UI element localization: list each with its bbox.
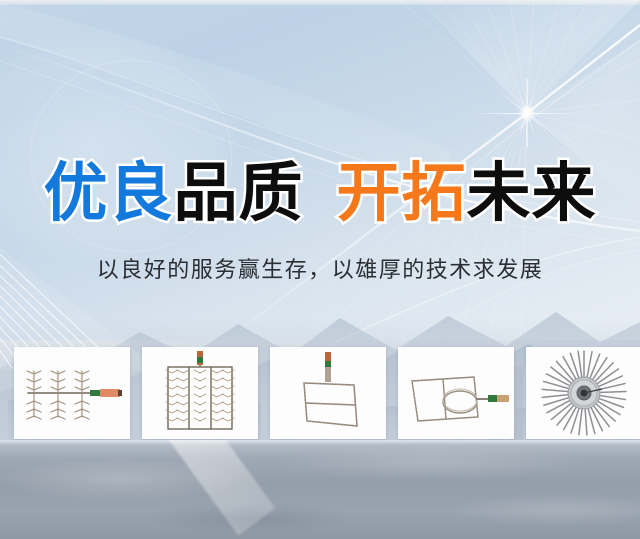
product-card-2[interactable] bbox=[142, 347, 258, 439]
concrete-ground bbox=[0, 440, 640, 539]
subtitle: 以良好的服务赢生存，以雄厚的技术求发展 bbox=[0, 256, 640, 286]
product-card-1[interactable] bbox=[14, 347, 130, 439]
rectangular-frame-rack-image bbox=[270, 347, 386, 439]
ground-top-highlight bbox=[0, 440, 640, 445]
radial-sunburst-skewer-wheel-image bbox=[526, 347, 640, 439]
product-card-3[interactable] bbox=[270, 347, 386, 439]
ground-light-streak bbox=[150, 440, 275, 535]
square-frame-with-ring-rack-image bbox=[398, 347, 514, 439]
headline-part-black-2: 未来 bbox=[467, 157, 597, 231]
product-card-4[interactable] bbox=[398, 347, 514, 439]
product-card-strip bbox=[14, 347, 640, 439]
headline-part-black-1: 品质 bbox=[174, 157, 304, 231]
headline-part-blue: 优良 bbox=[44, 157, 174, 231]
product-card-5[interactable] bbox=[526, 347, 640, 439]
comb-rake-skewer-rack-image bbox=[14, 347, 130, 439]
promo-banner: 优良品质 开拓未来 以良好的服务赢生存，以雄厚的技术求发展 bbox=[0, 0, 640, 539]
headline: 优良品质 开拓未来 bbox=[0, 162, 640, 226]
headline-part-orange: 开拓 bbox=[337, 157, 467, 231]
headline-space bbox=[304, 157, 337, 231]
multi-row-spike-rack-image bbox=[142, 347, 258, 439]
